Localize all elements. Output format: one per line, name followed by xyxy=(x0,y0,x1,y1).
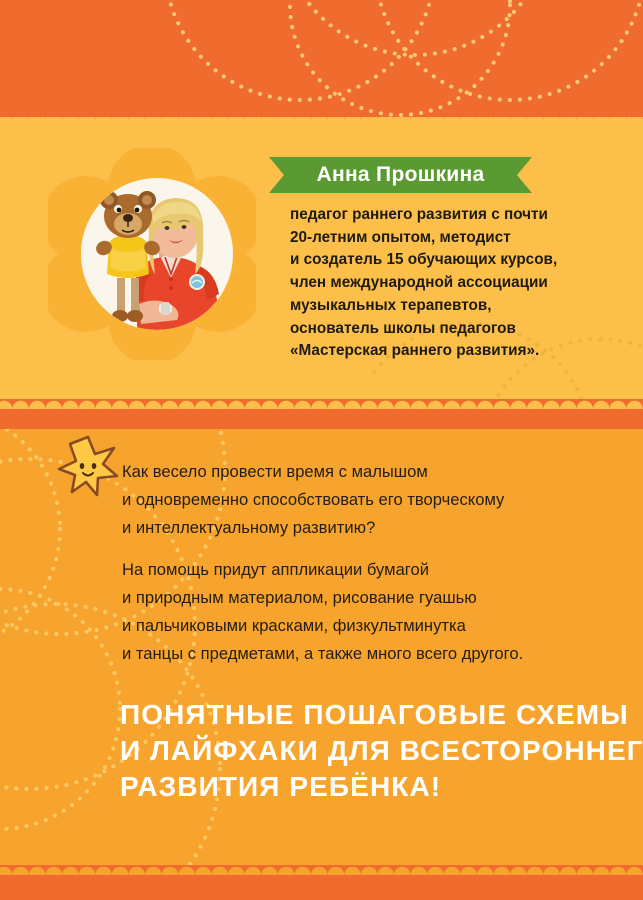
author-name: Анна Прошкина xyxy=(269,157,532,193)
bio-line: музыкальных терапевтов, xyxy=(290,295,640,318)
smiling-star-icon xyxy=(57,435,119,497)
bio-line: и создатель 15 обучающих курсов, xyxy=(290,249,640,272)
paragraph: На помощь придут аппликации бумагой и пр… xyxy=(122,556,632,668)
paragraph-line: и одновременно способствовать его творче… xyxy=(122,486,632,514)
headline-line: РАЗВИТИЯ РЕБЁНКА! xyxy=(120,769,620,805)
body-copy: Как весело провести время с малышом и од… xyxy=(122,458,632,682)
paragraph-line: и интеллектуальному развитию? xyxy=(122,514,632,542)
divider-band-scallop-edge xyxy=(0,399,643,409)
bio-line: «Мастерская раннего развития». xyxy=(290,340,640,363)
bio-line: основатель школы педагогов xyxy=(290,318,640,341)
dotted-circles-top-decoration xyxy=(150,0,643,128)
divider-band xyxy=(0,399,643,429)
bio-line: член международной ассоциации xyxy=(290,272,640,295)
book-cover: Анна Прошкина педагог раннего развития с… xyxy=(0,0,643,900)
paragraph-line: и природным материалом, рисование гуашью xyxy=(122,584,632,612)
author-photo-block xyxy=(48,148,256,360)
bottom-band xyxy=(0,865,643,900)
paragraph: Как весело провести время с малышом и од… xyxy=(122,458,632,542)
paragraph-line: Как весело провести время с малышом xyxy=(122,458,632,486)
bottom-band-scallop-edge xyxy=(0,865,643,875)
paragraph-line: и пальчиковыми красками, физкультминутка xyxy=(122,612,632,640)
paragraph-line: и танцы с предметами, а также много всег… xyxy=(122,640,632,668)
top-band xyxy=(0,0,643,128)
headline-line: ПОНЯТНЫЕ ПОШАГОВЫЕ СХЕМЫ xyxy=(120,697,620,733)
paragraph-line: На помощь придут аппликации бумагой xyxy=(122,556,632,584)
headline-line: И ЛАЙФХАКИ ДЛЯ ВСЕСТОРОННЕГО xyxy=(120,733,620,769)
bio-line: педагог раннего развития с почти xyxy=(290,204,640,227)
author-avatar xyxy=(81,178,233,330)
bio-line: 20-летним опытом, методист xyxy=(290,227,640,250)
author-name-ribbon: Анна Прошкина xyxy=(269,157,532,193)
headline: ПОНЯТНЫЕ ПОШАГОВЫЕ СХЕМЫ И ЛАЙФХАКИ ДЛЯ … xyxy=(120,697,620,805)
author-bio: педагог раннего развития с почти 20-летн… xyxy=(290,204,640,363)
